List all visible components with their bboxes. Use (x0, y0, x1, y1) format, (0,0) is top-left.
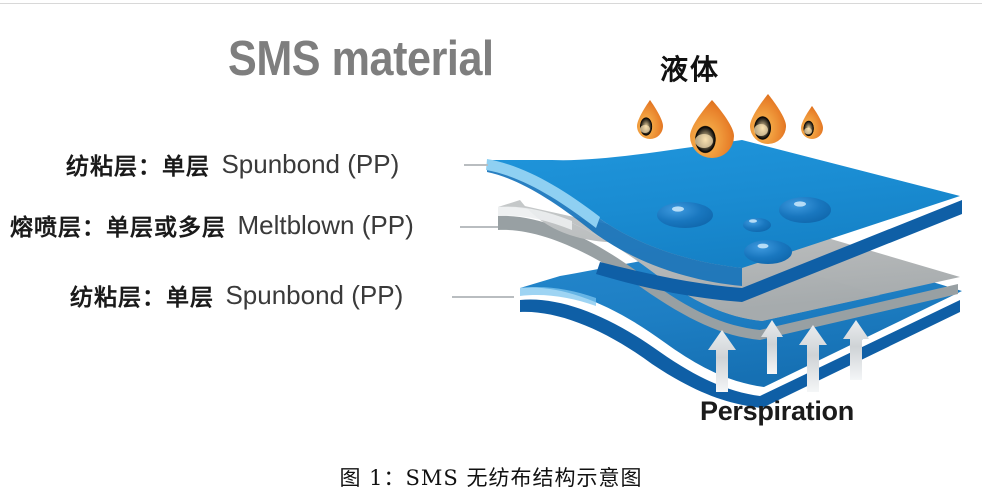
liquid-drops (637, 94, 823, 158)
leader-line-middle (460, 226, 498, 228)
liquid-drop-2-highlight (695, 134, 713, 148)
liquid-drop-2 (690, 100, 734, 158)
bead-4-highlight (758, 244, 769, 249)
liquid-drop-3 (750, 94, 786, 144)
label-en-bottom: Spunbond (PP) (225, 280, 403, 310)
label-cn-middle: 熔喷层：单层或多层 (10, 214, 226, 241)
label-cn-top: 纺粘层：单层 (66, 153, 210, 180)
bead-1-highlight (672, 206, 684, 211)
label-en-middle: Meltblown (PP) (237, 210, 413, 240)
perspiration-label: Perspiration (700, 396, 854, 427)
liquid-drop-1 (637, 100, 663, 139)
leader-line-bottom (452, 296, 514, 298)
bead-4 (744, 240, 792, 264)
liquid-drop-4 (801, 106, 823, 139)
liquid-drop-3-highlight (754, 124, 768, 136)
bead-2-highlight (749, 219, 757, 223)
label-row-bottom-spunbond: 纺粘层：单层 Spunbond (PP) (70, 278, 403, 312)
label-row-middle-meltblown: 熔喷层：单层或多层 Meltblown (PP) (10, 208, 414, 242)
liquid-drop-4-highlight (804, 128, 812, 135)
label-en-top: Spunbond (PP) (221, 149, 399, 179)
figure-canvas: SMS material (0, 0, 982, 495)
bead-3 (779, 197, 831, 223)
leader-line-top (464, 164, 488, 166)
label-row-top-spunbond: 纺粘层：单层 Spunbond (PP) (66, 147, 399, 181)
label-cn-bottom: 纺粘层：单层 (70, 284, 214, 311)
bead-2 (743, 218, 771, 232)
bead-3-highlight (794, 201, 806, 206)
bead-1 (657, 202, 713, 228)
liquid-label: 液体 (660, 48, 720, 88)
liquid-drop-1-highlight (640, 125, 650, 133)
figure-caption: 图 1：SMS 无纺布结构示意图 (0, 462, 982, 492)
